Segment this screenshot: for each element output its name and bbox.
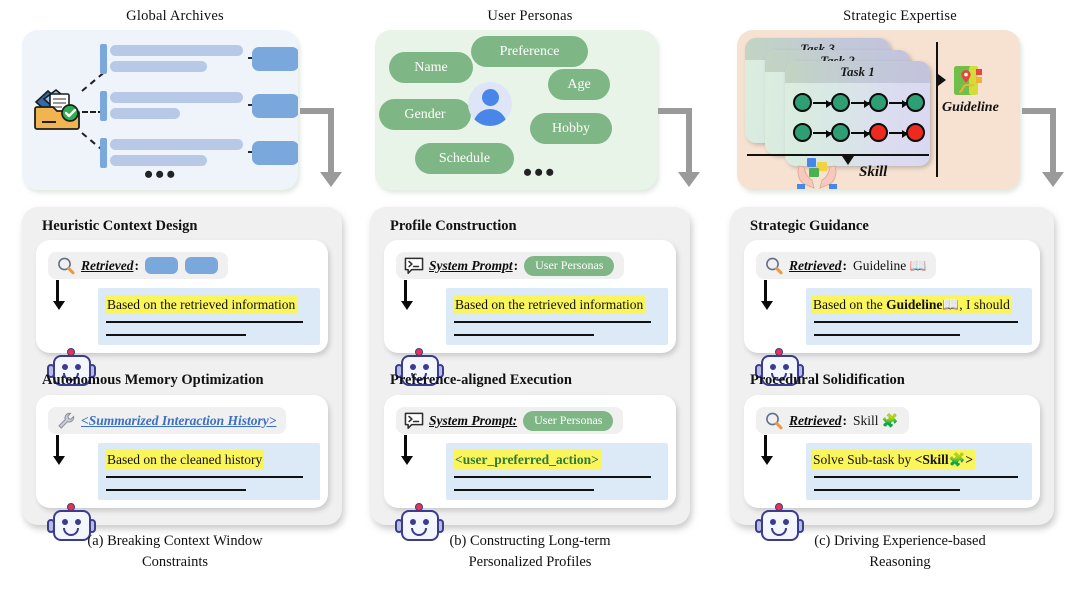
stage-label: Profile Construction (390, 218, 517, 235)
response-bubble: Solve Sub-task by <Skill🧩> (806, 443, 1032, 500)
figure-root: Global Archives (0, 0, 1080, 600)
caption-line-1: (c) Driving Experience-based (710, 531, 1080, 552)
response-bubble: Based on the retrieved information (446, 288, 668, 345)
source-title-a: Global Archives (0, 8, 355, 25)
archive-row-accent (100, 138, 107, 168)
retrieved-value: Guideline 📖 (853, 258, 926, 274)
task-flow-row-1 (793, 93, 925, 113)
archive-text-line (110, 45, 243, 56)
response-text: Solve Sub-task by <Skill🧩> (811, 450, 975, 469)
response-rule (814, 334, 960, 336)
persona-ellipsis: ••• (523, 168, 556, 178)
prompt-label: System Prompt (429, 258, 513, 274)
response-keyword: Guideline (886, 297, 942, 312)
response-prefix: Based on the (813, 297, 886, 312)
retrieved-chip (185, 257, 218, 274)
response-suffix: > (965, 452, 973, 467)
response-rule (814, 489, 960, 491)
response-text: Based on the retrieved information (105, 295, 297, 314)
prompt-label: Retrieved (789, 258, 841, 274)
archive-row (100, 138, 296, 168)
persona-tag-age: Age (548, 69, 610, 100)
skill-label: Skill (859, 164, 887, 181)
archive-row (100, 91, 296, 121)
strategic-expertise-panel: Task 3 Task 2 Task 1 (737, 30, 1020, 190)
terminal-icon (404, 412, 424, 430)
stage-label: Autonomous Memory Optimization (42, 372, 264, 389)
caption-line-1: (a) Breaking Context Window (0, 531, 355, 552)
prompt-colon: : (842, 258, 847, 274)
response-text: Based on the retrieved information (453, 295, 645, 314)
response-prefix: Solve Sub-task by (813, 452, 915, 467)
prompt-chip: Retrieved : (48, 252, 228, 279)
archive-row-chip (252, 141, 298, 165)
archive-text-line (110, 92, 243, 103)
persona-tag-name: Name (389, 52, 473, 83)
column-caption-c: (c) Driving Experience-based Reasoning (710, 531, 1080, 573)
response-rule (106, 334, 246, 336)
response-bubble: Based on the retrieved information (98, 288, 320, 345)
archive-folder-icon (34, 86, 86, 134)
prompt-chip: <Summarized Interaction History> (48, 407, 286, 434)
guideline-book-icon (953, 64, 983, 98)
column-b: User Personas Name Preference Age Gender… (352, 0, 708, 600)
archive-row-chip (252, 47, 298, 71)
response-suffix: , I should (959, 297, 1010, 312)
response-bubble: Based on the Guideline📖, I should (806, 288, 1032, 345)
prompt-label: System Prompt: (429, 413, 517, 429)
guideline-divider (936, 42, 938, 177)
persona-chip: User Personas (523, 411, 613, 431)
stage-label: Heuristic Context Design (42, 218, 197, 235)
prompt-chip: Retrieved : Guideline 📖 (756, 252, 936, 279)
agent-robot-icon (398, 441, 442, 493)
response-rule (454, 476, 651, 478)
terminal-icon (404, 257, 424, 275)
stage-card: Retrieved : Guideline 📖 Based on t (744, 240, 1040, 353)
flow-arrow-c (1022, 108, 1068, 198)
guideline-label: Guideline (942, 100, 999, 116)
archive-row-list (100, 44, 296, 176)
agent-robot-icon (398, 286, 442, 338)
stage-card: System Prompt: User Personas <user_prefe… (384, 395, 676, 508)
response-rule (454, 489, 594, 491)
user-avatar-icon (468, 82, 512, 126)
magnifier-icon (764, 256, 784, 276)
archive-row-chip (252, 94, 298, 118)
stage-card: System Prompt : User Personas Based on t… (384, 240, 676, 353)
persona-tag-schedule: Schedule (415, 143, 514, 174)
response-rule (814, 321, 1018, 323)
response-rule (454, 321, 651, 323)
source-title-b: User Personas (352, 8, 708, 25)
summarized-history-link[interactable]: <Summarized Interaction History> (81, 413, 276, 429)
caption-line-2: Constraints (0, 552, 355, 573)
archive-row-accent (100, 44, 107, 74)
retrieved-chip (145, 257, 178, 274)
stage-label: Preference-aligned Execution (390, 372, 572, 389)
wrench-icon (56, 411, 76, 431)
stage-container-c: Strategic Guidance Retrieved : Guideline… (730, 207, 1054, 525)
prompt-label: Retrieved (81, 258, 133, 274)
column-a: Global Archives (0, 0, 360, 600)
book-emoji: 📖 (942, 297, 959, 312)
stage-card: Retrieved : Skill 🧩 Solve Sub-task (744, 395, 1040, 508)
prompt-colon: : (134, 258, 139, 274)
response-text: Based on the Guideline📖, I should (811, 295, 1012, 314)
agent-robot-icon (50, 441, 94, 493)
persona-tag-preference: Preference (471, 36, 588, 67)
global-archives-panel: ••• (22, 30, 298, 190)
task-flow-row-2 (793, 123, 925, 143)
skill-pointer (842, 156, 854, 165)
archive-ellipsis: ••• (144, 170, 177, 180)
agent-robot-icon (50, 286, 94, 338)
stage-label: Strategic Guidance (750, 218, 869, 235)
stage-container-a: Heuristic Context Design Retrieved : (22, 207, 342, 525)
task-card-title: Task 1 (785, 61, 930, 83)
column-caption-a: (a) Breaking Context Window Constraints (0, 531, 355, 573)
response-text: Based on the cleaned history (105, 450, 264, 469)
archive-text-line (110, 61, 207, 72)
caption-line-1: (b) Constructing Long-term (352, 531, 708, 552)
flow-arrow-a (300, 108, 346, 198)
response-rule (454, 334, 594, 336)
prompt-chip: Retrieved : Skill 🧩 (756, 407, 909, 434)
response-keyword: <Skill (915, 452, 949, 467)
skill-hands-puzzle-icon (793, 156, 841, 190)
agent-robot-icon (758, 286, 802, 338)
prompt-chip: System Prompt: User Personas (396, 407, 623, 434)
puzzle-emoji: 🧩 (949, 452, 966, 467)
stage-card: Retrieved : Based on the retrieved i (36, 240, 328, 353)
task-card-1: Task 1 (785, 61, 930, 166)
caption-line-2: Reasoning (710, 552, 1080, 573)
magnifier-icon (56, 256, 76, 276)
response-bubble: <user_preferred_action> (446, 443, 668, 500)
prompt-chip: System Prompt : User Personas (396, 252, 624, 279)
response-rule (106, 476, 303, 478)
stage-container-b: Profile Construction System Prompt : Use… (370, 207, 690, 525)
persona-tag-gender: Gender (379, 99, 471, 130)
prompt-label: Retrieved (789, 413, 841, 429)
stage-card: <Summarized Interaction History> Based o… (36, 395, 328, 508)
flow-arrow-b (658, 108, 704, 198)
guideline-pointer (938, 74, 946, 86)
archive-row-accent (100, 91, 107, 121)
archive-text-line (110, 139, 243, 150)
agent-robot-icon (758, 441, 802, 493)
retrieved-value: Skill 🧩 (853, 413, 899, 429)
archive-row (100, 44, 296, 74)
column-caption-b: (b) Constructing Long-term Personalized … (352, 531, 708, 573)
column-c: Strategic Expertise Task 3 Task 2 Task 1 (700, 0, 1080, 600)
stage-label: Procedural Solidification (750, 372, 905, 389)
archive-text-line (110, 108, 180, 119)
persona-tag-hobby: Hobby (530, 113, 612, 144)
response-text: <user_preferred_action> (453, 450, 601, 469)
magnifier-icon (764, 411, 784, 431)
persona-chip: User Personas (524, 256, 614, 276)
response-bubble: Based on the cleaned history (98, 443, 320, 500)
response-rule (106, 321, 303, 323)
response-rule (106, 489, 246, 491)
caption-line-2: Personalized Profiles (352, 552, 708, 573)
response-rule (814, 476, 1018, 478)
source-title-c: Strategic Expertise (710, 8, 1080, 25)
prompt-colon: : (842, 413, 847, 429)
user-personas-panel: Name Preference Age Gender Hobby Schedul… (375, 30, 657, 190)
prompt-colon: : (514, 258, 519, 274)
